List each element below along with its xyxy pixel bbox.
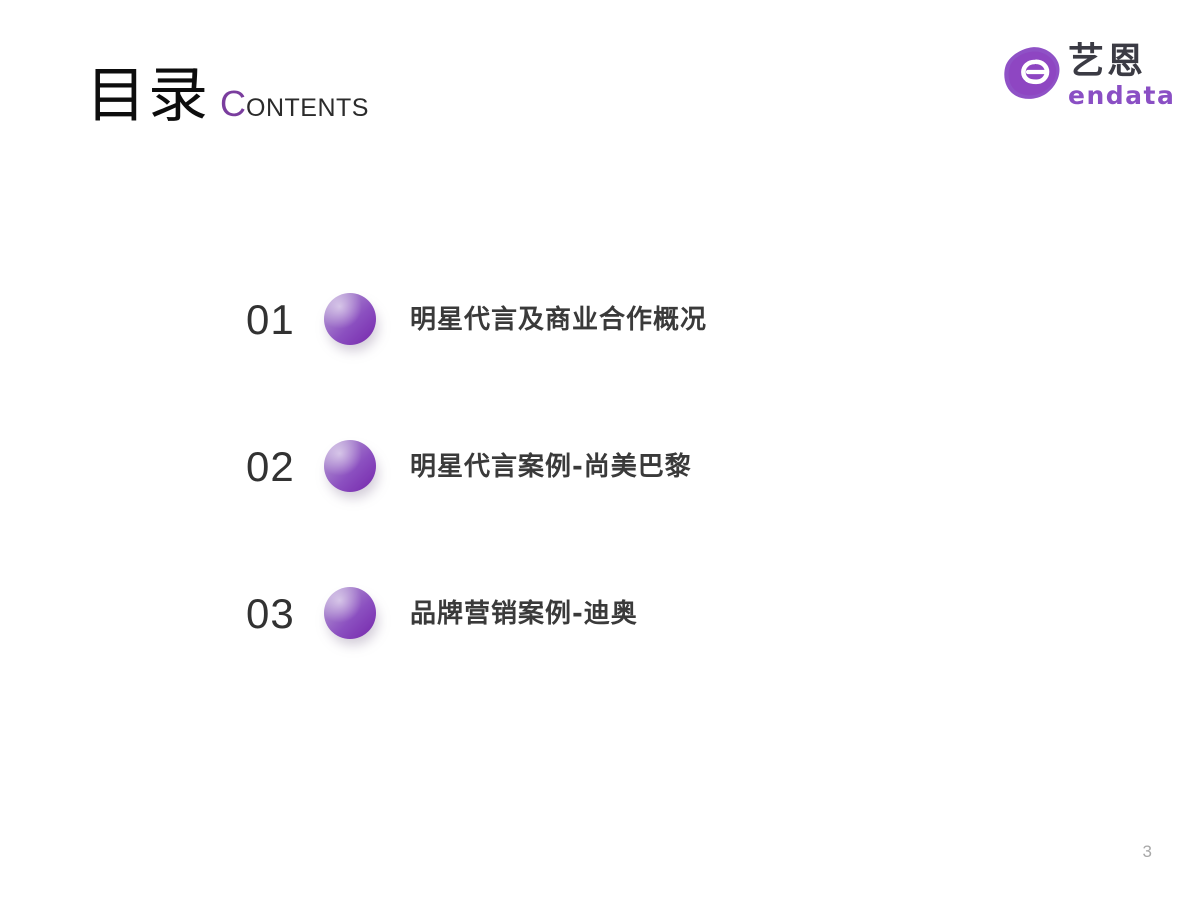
contents-item-number: 02 — [246, 446, 324, 488]
contents-item-label: 明星代言案例-尚美巴黎 — [410, 454, 692, 480]
contents-item-02[interactable]: 02 明星代言案例-尚美巴黎 — [246, 435, 1046, 499]
brand-name-cn: 艺恩 — [1068, 44, 1146, 80]
page-title-en-capital: C — [220, 83, 246, 124]
page-number: 3 — [1143, 842, 1152, 862]
contents-list: 01 明星代言及商业合作概况 02 明星代言案例-尚美巴黎 03 品牌营销案例-… — [246, 288, 1046, 646]
contents-item-label: 品牌营销案例-迪奥 — [410, 601, 638, 627]
page-title-en-rest: ONTENTS — [246, 94, 369, 122]
page-title-cn: 目录 — [86, 66, 210, 126]
contents-item-number: 01 — [246, 299, 324, 341]
contents-item-03[interactable]: 03 品牌营销案例-迪奥 — [246, 582, 1046, 646]
purple-sphere-bullet-icon — [324, 587, 378, 641]
purple-sphere-bullet-icon — [324, 293, 378, 347]
brand-logo: 艺恩 endata — [1002, 44, 1175, 108]
contents-item-number: 03 — [246, 593, 324, 635]
brand-name-en: endata — [1068, 83, 1175, 108]
brand-wordmark: 艺恩 endata — [1068, 44, 1175, 108]
contents-item-01[interactable]: 01 明星代言及商业合作概况 — [246, 288, 1046, 352]
page-title: 目录 CONTENTS — [86, 66, 369, 126]
endata-e-logo-icon — [1002, 45, 1062, 101]
slide-contents-page: 艺恩 endata 目录 CONTENTS 01 明星代言及商业合作概况 02 … — [0, 0, 1200, 900]
contents-item-label: 明星代言及商业合作概况 — [410, 307, 707, 333]
page-title-en: CONTENTS — [220, 86, 369, 122]
purple-sphere-bullet-icon — [324, 440, 378, 494]
